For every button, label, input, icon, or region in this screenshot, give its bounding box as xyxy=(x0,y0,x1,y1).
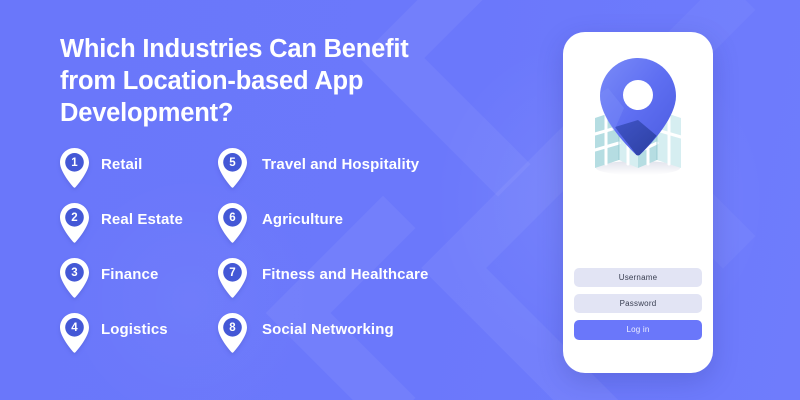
list-item-label: Fitness and Healthcare xyxy=(262,266,428,283)
list-item-number: 5 xyxy=(218,153,247,173)
list-item-number: 2 xyxy=(60,208,89,228)
list-item-label: Social Networking xyxy=(262,321,394,338)
list-item-number: 8 xyxy=(218,318,247,338)
list-item[interactable]: 5 Travel and Hospitality xyxy=(218,148,518,203)
map-pin-icon: 7 xyxy=(218,258,247,298)
map-pin-icon: 6 xyxy=(218,203,247,243)
list-item-label: Retail xyxy=(101,156,142,173)
list-item-number: 1 xyxy=(60,153,89,173)
login-form: Username Password Log in xyxy=(574,268,702,340)
list-item[interactable]: 7 Fitness and Healthcare xyxy=(218,258,518,313)
list-item-label: Finance xyxy=(101,266,158,283)
list-item-number: 6 xyxy=(218,208,247,228)
map-pin-illustration xyxy=(575,50,701,180)
industry-list-left-column: 1 Retail 2 Real Estate 3 Finance xyxy=(60,148,210,368)
map-pin-icon: 3 xyxy=(60,258,89,298)
map-pin-icon: 2 xyxy=(60,203,89,243)
login-button[interactable]: Log in xyxy=(574,320,702,340)
list-item-number: 3 xyxy=(60,263,89,283)
list-item[interactable]: 3 Finance xyxy=(60,258,210,313)
list-item-label: Logistics xyxy=(101,321,168,338)
map-pin-icon: 8 xyxy=(218,313,247,353)
page-title-line-2: from Location-based App xyxy=(60,66,480,98)
list-item-number: 4 xyxy=(60,318,89,338)
map-pin-icon: 1 xyxy=(60,148,89,188)
page-title-line-1: Which Industries Can Benefit xyxy=(60,34,480,66)
username-input[interactable]: Username xyxy=(574,268,702,287)
list-item-label: Agriculture xyxy=(262,211,343,228)
list-item-number: 7 xyxy=(218,263,247,283)
phone-mockup: Username Password Log in xyxy=(563,32,713,373)
password-input[interactable]: Password xyxy=(574,294,702,313)
industry-list-right-column: 5 Travel and Hospitality 6 Agriculture 7… xyxy=(218,148,518,368)
map-pin-icon: 4 xyxy=(60,313,89,353)
list-item[interactable]: 2 Real Estate xyxy=(60,203,210,258)
page-title: Which Industries Can Benefit from Locati… xyxy=(60,34,480,130)
list-item-label: Travel and Hospitality xyxy=(262,156,419,173)
infographic-canvas: Which Industries Can Benefit from Locati… xyxy=(0,0,800,400)
list-item-label: Real Estate xyxy=(101,211,183,228)
map-pin-icon: 5 xyxy=(218,148,247,188)
list-item[interactable]: 8 Social Networking xyxy=(218,313,518,368)
list-item[interactable]: 6 Agriculture xyxy=(218,203,518,258)
list-item[interactable]: 4 Logistics xyxy=(60,313,210,368)
page-title-line-3: Development? xyxy=(60,98,480,130)
list-item[interactable]: 1 Retail xyxy=(60,148,210,203)
